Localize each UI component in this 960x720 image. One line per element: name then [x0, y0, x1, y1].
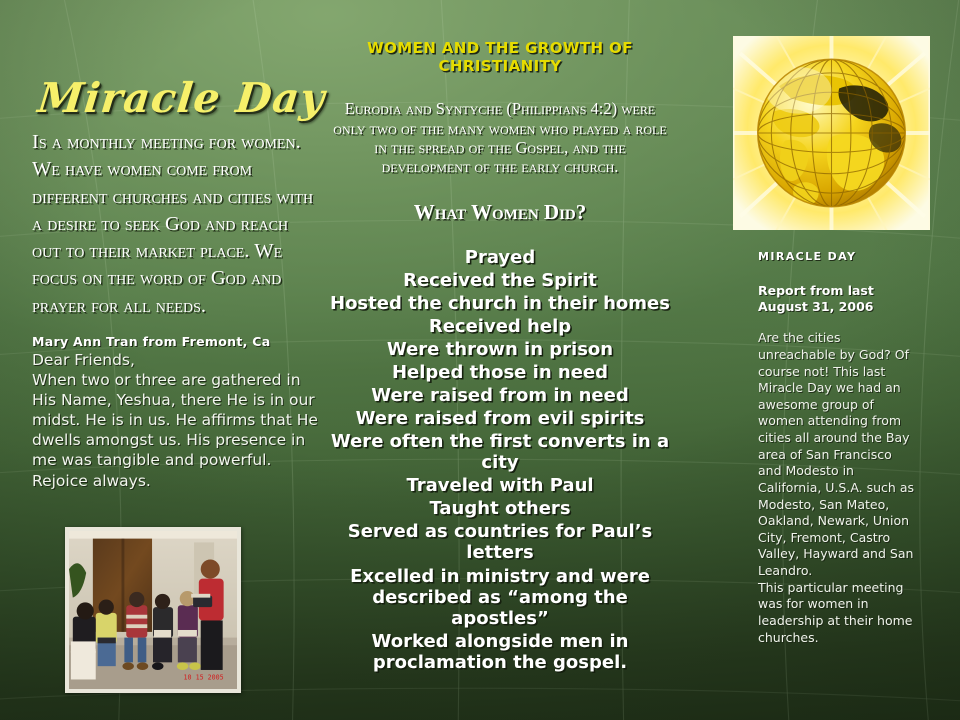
center-question-heading: What Women Did?: [325, 200, 675, 225]
globe-graphic: [733, 36, 930, 230]
right-report-heading: Report from last August 31, 2006: [758, 283, 918, 314]
deeds-list-item: Taught others: [325, 498, 675, 519]
deeds-list-item: Were raised from evil spirits: [325, 408, 675, 429]
intro-paragraph: Is a monthly meeting for women. We have …: [32, 129, 320, 320]
center-verse-paragraph: Eurodia and Syntyche (Philippians 4:2) w…: [333, 99, 667, 176]
right-content-column: MIRACLE DAY Report from last August 31, …: [758, 250, 918, 646]
meeting-photo-graphic: 10 15 2005: [69, 531, 237, 689]
deeds-list: PrayedReceived the SpiritHosted the chur…: [325, 247, 675, 673]
deeds-list-item: Received the Spirit: [325, 270, 675, 291]
deeds-list-item: Received help: [325, 316, 675, 337]
deeds-list-item: Traveled with Paul: [325, 475, 675, 496]
deeds-list-item: Helped those in need: [325, 362, 675, 383]
photo-timestamp: 10 15 2005: [184, 673, 224, 681]
center-title: Women and the growth of Christianity: [331, 40, 669, 75]
deeds-list-item: Served as countries for Paul’s letters: [325, 521, 675, 563]
deeds-list-item: Hosted the church in their homes: [325, 293, 675, 314]
letter-body-text: Dear Friends, When two or three are gath…: [32, 350, 320, 491]
right-report-body: Are the cities unreachable by God? Of co…: [758, 330, 918, 646]
author-signature: Mary Ann Tran from Fremont, Ca: [32, 334, 320, 349]
deeds-list-item: Were often the first converts in a city: [325, 431, 675, 473]
deeds-list-item: Excelled in ministry and were described …: [325, 566, 675, 629]
meeting-photo: 10 15 2005: [65, 527, 241, 693]
left-content-column: Miracle Day Is a monthly meeting for wom…: [30, 78, 320, 491]
right-kicker-label: MIRACLE DAY: [758, 250, 918, 263]
deeds-list-item: Prayed: [325, 247, 675, 268]
center-content-column: Women and the growth of Christianity Eur…: [325, 40, 675, 675]
brand-title: Miracle Day: [36, 78, 322, 119]
slide-canvas: Miracle Day Is a monthly meeting for wom…: [0, 0, 960, 720]
deeds-list-item: Were thrown in prison: [325, 339, 675, 360]
deeds-list-item: Worked alongside men in proclamation the…: [325, 631, 675, 673]
golden-globe-image: [733, 36, 930, 230]
deeds-list-item: Were raised from in need: [325, 385, 675, 406]
